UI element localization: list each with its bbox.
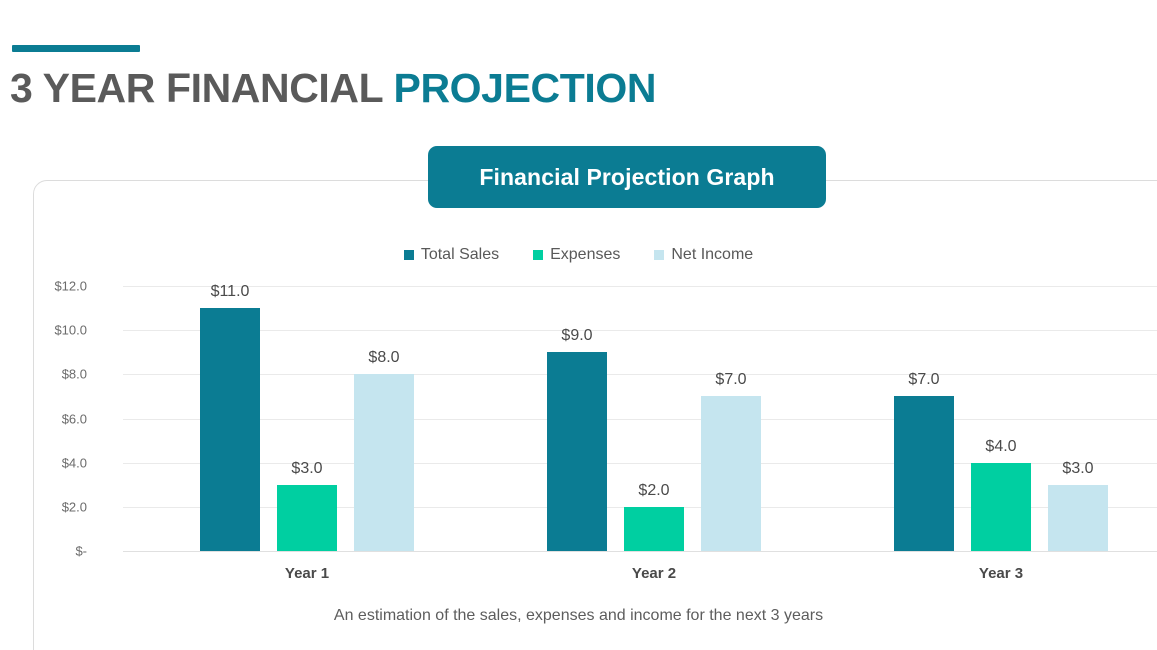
- legend-label: Expenses: [550, 246, 620, 264]
- legend-label: Net Income: [671, 246, 753, 264]
- chart-caption: An estimation of the sales, expenses and…: [0, 607, 1157, 625]
- legend-item[interactable]: Total Sales: [404, 246, 499, 264]
- page-title-highlight: PROJECTION: [394, 65, 657, 111]
- chart-title-banner: Financial Projection Graph: [428, 146, 826, 208]
- legend-swatch-icon: [654, 250, 664, 260]
- legend-item[interactable]: Expenses: [533, 246, 620, 264]
- legend-item[interactable]: Net Income: [654, 246, 753, 264]
- chart-title-label: Financial Projection Graph: [479, 164, 774, 191]
- legend-swatch-icon: [533, 250, 543, 260]
- legend-swatch-icon: [404, 250, 414, 260]
- legend-label: Total Sales: [421, 246, 499, 264]
- slide-root: 3 YEAR FINANCIAL PROJECTION Financial Pr…: [0, 0, 1157, 650]
- page-title-plain: 3 YEAR FINANCIAL: [10, 65, 394, 111]
- title-accent-rule: [12, 45, 140, 52]
- page-title: 3 YEAR FINANCIAL PROJECTION: [10, 60, 656, 116]
- chart-legend: Total SalesExpensesNet Income: [0, 246, 1157, 264]
